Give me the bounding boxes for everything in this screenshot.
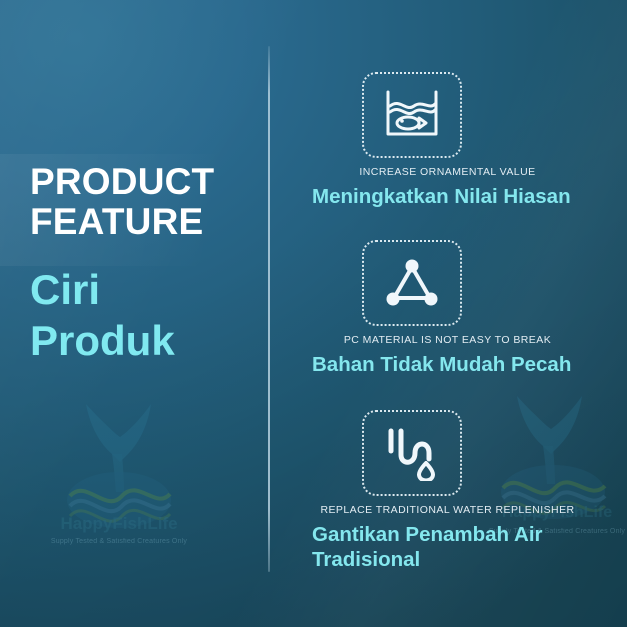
feature-caption: INCREASE ORNAMENTAL VALUE: [268, 166, 627, 178]
product-feature-infographic: HappyFishLife Supply Tested & Satisfied …: [0, 0, 627, 627]
water-pipe-drop-icon: [362, 410, 462, 496]
page-title-english: PRODUCT FEATURE: [30, 162, 260, 242]
title-panel: PRODUCT FEATURE Ciri Produk: [0, 140, 268, 430]
watermark-brand-text: HappyFishLife: [24, 514, 214, 534]
molecule-triangle-icon: [362, 240, 462, 326]
aquarium-fish-icon: [362, 72, 462, 158]
feature-caption: PC MATERIAL IS NOT EASY TO BREAK: [268, 334, 627, 346]
page-title-indonesian: Ciri Produk: [30, 264, 266, 366]
watermark-tagline-text: Supply Tested & Satisfied Creatures Only: [24, 538, 214, 545]
feature-title: Bahan Tidak Mudah Pecah: [312, 352, 627, 377]
feature-list: INCREASE ORNAMENTAL VALUE Meningkatkan N…: [268, 0, 627, 627]
feature-caption: REPLACE TRADITIONAL WATER REPLENISHER: [268, 504, 627, 516]
feature-title: Gantikan Penambah Air Tradisional: [312, 522, 627, 573]
feature-title: Meningkatkan Nilai Hiasan: [312, 184, 627, 209]
